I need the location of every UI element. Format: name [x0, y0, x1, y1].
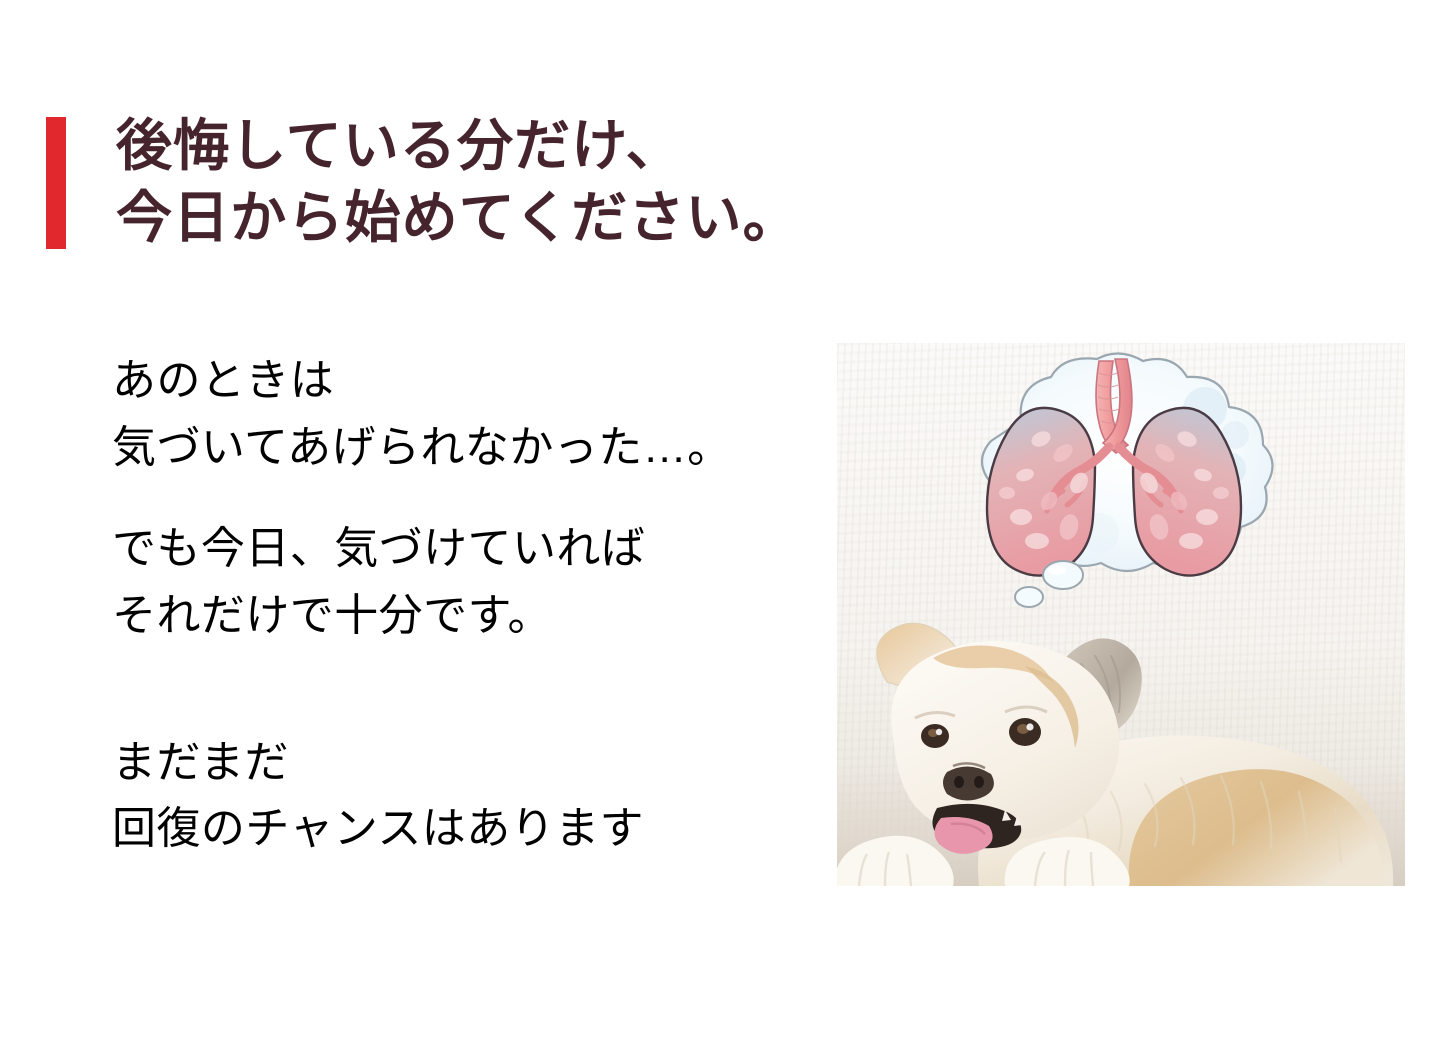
paragraph-gap	[112, 684, 812, 730]
paragraph-1-line-2: 気づいてあげられなかった…。	[112, 415, 812, 482]
dog-photo-subject	[837, 586, 1405, 886]
dog-lungs-photo	[837, 343, 1405, 886]
heading-block: 後悔している分だけ、 今日から始めてください。	[46, 112, 800, 255]
paragraph-3-line-2: 回復のチャンスはあります	[112, 796, 812, 863]
paragraph-2-line-2: それだけで十分です。	[112, 583, 812, 650]
paragraph-3-line-1: まだまだ	[112, 730, 812, 797]
page-title-line-2: 今日から始めてください。	[116, 184, 800, 256]
paragraph-3: まだまだ 回復のチャンスはあります	[112, 730, 812, 864]
page-title-line-1: 後悔している分だけ、	[116, 112, 800, 184]
slide-canvas: 後悔している分だけ、 今日から始めてください。 あのときは 気づいてあげられなか…	[0, 0, 1440, 1051]
page-title: 後悔している分だけ、 今日から始めてください。	[116, 112, 800, 255]
accent-bar	[46, 117, 66, 249]
body-copy: あのときは 気づいてあげられなかった…。 でも今日、気づけていれば それだけで十…	[112, 348, 812, 863]
paragraph-2-line-1: でも今日、気づけていれば	[112, 516, 812, 583]
paragraph-1: あのときは 気づいてあげられなかった…。	[112, 348, 812, 482]
paragraph-1-line-1: あのときは	[112, 348, 812, 415]
paragraph-2: でも今日、気づけていれば それだけで十分です。	[112, 516, 812, 650]
thought-bubble	[929, 351, 1319, 613]
